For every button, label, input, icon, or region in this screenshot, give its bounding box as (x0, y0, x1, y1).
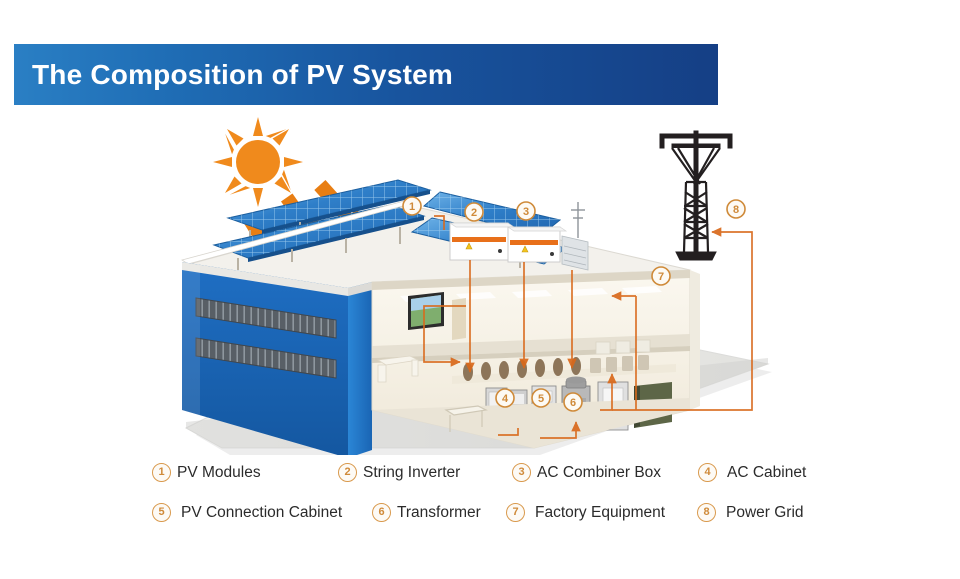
legend-item-6: 6 Transformer (372, 503, 481, 522)
legend-marker-3: 3 (512, 463, 531, 482)
legend-label-7: Factory Equipment (535, 504, 665, 522)
legend-row-1: 1 PV Modules 2 String Inverter 3 AC Comb… (0, 463, 960, 493)
svg-text:2: 2 (471, 207, 477, 219)
factory-building (182, 180, 700, 455)
transmission-tower-icon (660, 131, 732, 260)
diagram-marker-4: 4 (496, 389, 514, 407)
legend-marker-1: 1 (152, 463, 171, 482)
pv-system-diagram: 1 2 3 4 5 6 7 8 (0, 110, 960, 455)
legend-item-1: 1 PV Modules (152, 463, 261, 482)
display-screen (408, 292, 444, 330)
legend-marker-8: 8 (697, 503, 716, 522)
svg-text:5: 5 (538, 393, 544, 405)
legend-label-1: PV Modules (177, 464, 261, 482)
legend-label-6: Transformer (397, 504, 481, 522)
legend-item-5: 5 PV Connection Cabinet (152, 503, 342, 522)
svg-text:1: 1 (409, 201, 415, 213)
legend-marker-7: 7 (506, 503, 525, 522)
legend-item-2: 2 String Inverter (338, 463, 460, 482)
legend-marker-4: 4 (698, 463, 717, 482)
legend-item-3: 3 AC Combiner Box (512, 463, 661, 482)
legend-label-5: PV Connection Cabinet (181, 504, 342, 522)
diagram-marker-6: 6 (564, 393, 582, 411)
legend-label-3: AC Combiner Box (537, 464, 661, 482)
antenna-icon (571, 202, 585, 238)
pv-system-illustration: 1 2 3 4 5 6 7 8 (0, 110, 960, 455)
legend-row-2: 5 PV Connection Cabinet 6 Transformer 7 … (0, 503, 960, 533)
diagram-marker-1: 1 (403, 197, 421, 215)
legend-label-4: AC Cabinet (727, 464, 806, 482)
legend-marker-6: 6 (372, 503, 391, 522)
page-title-banner: The Composition of PV System (14, 44, 718, 105)
page-title: The Composition of PV System (32, 59, 453, 91)
building-interior (372, 270, 690, 448)
diagram-marker-8: 8 (727, 200, 745, 218)
diagram-marker-3: 3 (517, 202, 535, 220)
legend-label-2: String Inverter (363, 464, 460, 482)
svg-text:3: 3 (523, 206, 529, 218)
legend-item-7: 7 Factory Equipment (506, 503, 665, 522)
legend-label-8: Power Grid (726, 504, 804, 522)
legend-item-8: 8 Power Grid (697, 503, 804, 522)
diagram-marker-5: 5 (532, 389, 550, 407)
svg-text:8: 8 (733, 204, 739, 216)
svg-text:6: 6 (570, 397, 576, 409)
diagram-marker-7: 7 (652, 267, 670, 285)
legend-item-4: 4 AC Cabinet (698, 463, 806, 482)
diagram-marker-2: 2 (465, 203, 483, 221)
svg-text:4: 4 (502, 393, 509, 405)
legend: 1 PV Modules 2 String Inverter 3 AC Comb… (0, 460, 960, 540)
legend-marker-2: 2 (338, 463, 357, 482)
legend-marker-5: 5 (152, 503, 171, 522)
svg-text:7: 7 (658, 271, 664, 283)
sun-icon (213, 117, 303, 207)
